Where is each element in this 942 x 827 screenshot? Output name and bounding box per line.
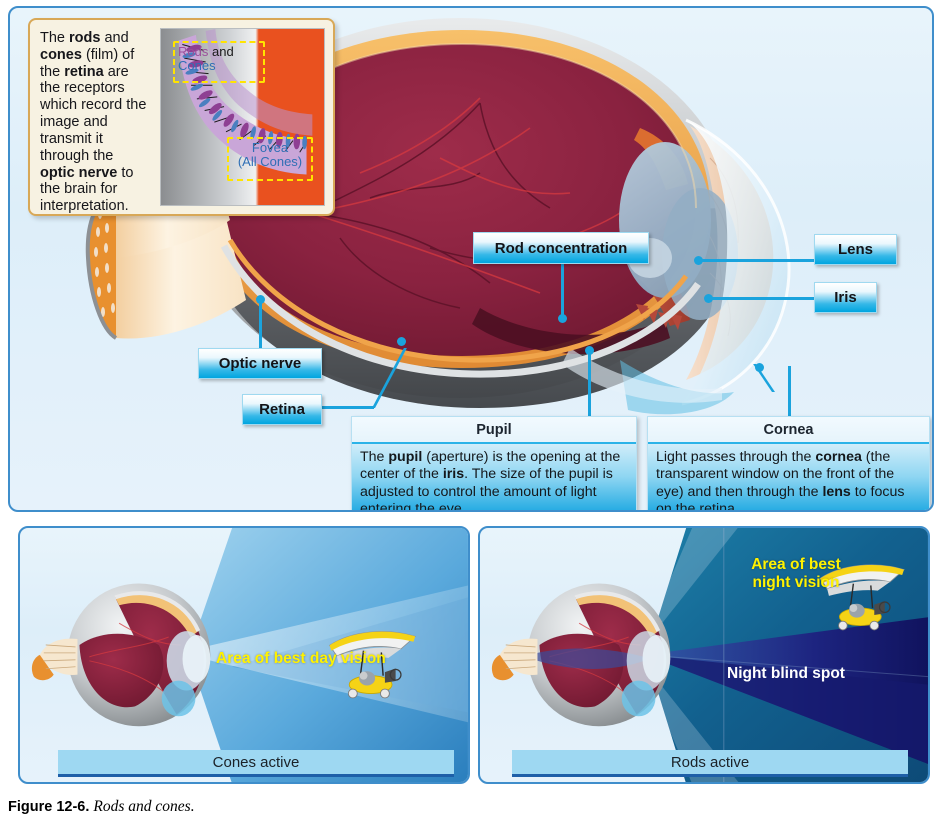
day-caption-text: Cones active: [213, 754, 300, 771]
night-caption-text: Rods active: [671, 754, 749, 771]
fovea-all-cones-text: (All Cones): [238, 154, 302, 169]
night-vision-panel: Area of best night vision Night blind sp…: [478, 526, 930, 784]
description-box-pupil: Pupil The pupil (aperture) is the openin…: [351, 416, 637, 512]
day-vision-panel: Area of best day vision Cones active: [18, 526, 470, 784]
inset-label-fovea: Fovea (All Cones): [232, 141, 308, 170]
main-eye-panel: Rod concentration Lens Iris Optic nerve …: [8, 6, 934, 512]
inset-retina-diagram: Rods and Cones Fovea (All Cones): [160, 28, 325, 206]
night-vision-label: Area of best night vision: [726, 556, 866, 593]
cones-text: Cones: [178, 58, 216, 73]
rods-cones-inset-callout: The rods and cones (film) of the retina …: [28, 18, 335, 216]
description-body-cornea: Light passes through the cornea (the tra…: [648, 444, 929, 512]
night-caption-bar: Rods active: [512, 750, 908, 777]
label-text: Optic nerve: [219, 355, 302, 372]
label-lens[interactable]: Lens: [814, 234, 897, 265]
inset-description-text: The rods and cones (film) of the retina …: [40, 28, 152, 206]
leader-dot-lens: [694, 256, 703, 265]
day-vision-label: Area of best day vision: [216, 650, 386, 668]
leader-dot-retina: [397, 337, 406, 346]
label-text: Iris: [834, 289, 857, 306]
figure-number: Figure 12-6.: [8, 799, 89, 815]
description-box-cornea: Cornea Light passes through the cornea (…: [647, 416, 930, 512]
leader-dot-iris: [704, 294, 713, 303]
leader-line-lens: [700, 259, 816, 262]
leader-dot-pupil: [585, 346, 594, 355]
inset-label-rods-cones: Rods and Cones: [178, 45, 234, 74]
leader-dot-optic-nerve: [256, 295, 265, 304]
label-text: Retina: [259, 401, 305, 418]
label-iris[interactable]: Iris: [814, 282, 877, 313]
leader-line-rod-concentration: [561, 264, 564, 320]
leader-line-pupil: [588, 350, 591, 416]
fovea-text: Fovea: [252, 140, 288, 155]
description-body-pupil: The pupil (aperture) is the opening at t…: [352, 444, 636, 512]
leader-dot-rod-concentration: [558, 314, 567, 323]
label-rod-concentration[interactable]: Rod concentration: [473, 232, 649, 264]
leader-line-cornea: [788, 366, 791, 416]
leader-line-iris: [710, 297, 816, 300]
description-heading-cornea: Cornea: [648, 417, 929, 444]
night-vision-label-line2: night vision: [753, 574, 840, 591]
label-text: Rod concentration: [495, 240, 628, 257]
rods-text: Rods: [178, 44, 208, 59]
label-optic-nerve[interactable]: Optic nerve: [198, 348, 322, 379]
description-heading-pupil: Pupil: [352, 417, 636, 444]
figure-title: Rods and cones.: [93, 798, 194, 815]
leader-line-retina-h: [318, 406, 374, 409]
label-text: Lens: [838, 241, 873, 258]
night-vision-label-line1: Area of best: [751, 556, 841, 573]
label-retina[interactable]: Retina: [242, 394, 322, 425]
and-text: and: [212, 44, 234, 59]
leader-line-optic-nerve: [259, 298, 262, 350]
figure-caption: Figure 12-6. Rods and cones.: [8, 798, 195, 816]
day-caption-bar: Cones active: [58, 750, 454, 777]
night-blind-spot-label: Night blind spot: [727, 665, 845, 683]
